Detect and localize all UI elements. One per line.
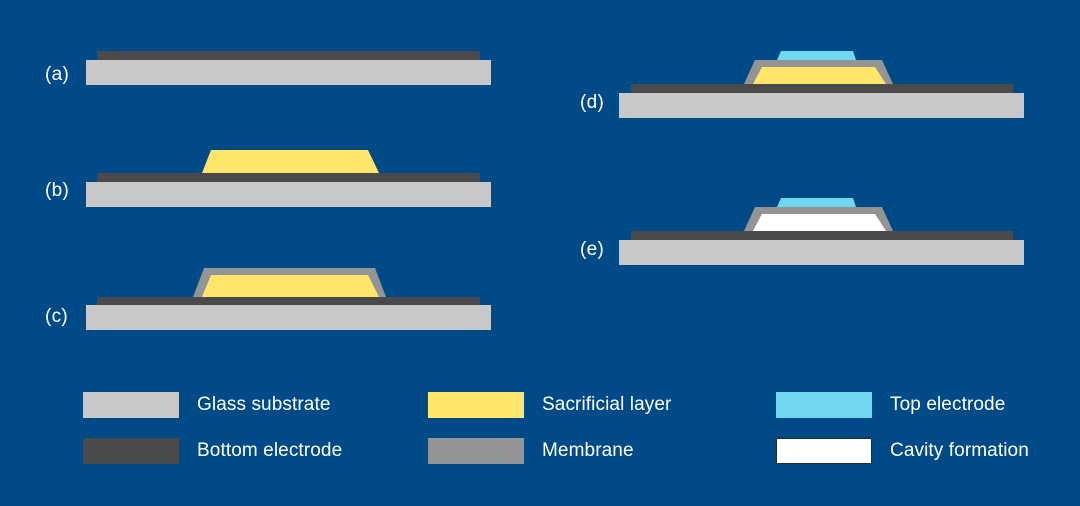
sacrificial-layer-shape <box>753 67 886 84</box>
panel-c <box>80 258 500 343</box>
top-electrode-shape <box>777 51 856 60</box>
glass-substrate-layer <box>619 93 1024 118</box>
legend-swatch-sacrificial-layer <box>428 392 524 418</box>
legend-label-top-electrode: Top electrode <box>890 394 1005 416</box>
glass-substrate-layer <box>86 305 491 330</box>
legend-swatch-bottom-electrode <box>83 438 179 464</box>
legend-item-top-electrode: Top electrode <box>776 392 1005 418</box>
legend-label-sacrificial-layer: Sacrificial layer <box>542 394 671 416</box>
legend-item-bottom-electrode: Bottom electrode <box>83 438 342 464</box>
legend-label-glass-substrate: Glass substrate <box>197 394 331 416</box>
sacrificial-layer-shape <box>202 275 379 297</box>
legend-item-sacrificial-layer: Sacrificial layer <box>428 392 671 418</box>
legend-item-cavity-formation: Cavity formation <box>776 438 1029 464</box>
legend-swatch-membrane <box>428 438 524 464</box>
glass-substrate-layer <box>86 60 491 85</box>
legend: Glass substrate Sacrificial layer Top el… <box>83 392 1043 472</box>
panel-label-b: (b) <box>45 180 69 202</box>
panel-label-d: (d) <box>580 92 604 114</box>
legend-item-membrane: Membrane <box>428 438 634 464</box>
sacrificial-layer-shape <box>202 150 379 173</box>
diagram-canvas: (a) (b) (c) (d) <box>0 0 1080 506</box>
glass-substrate-layer <box>86 182 491 207</box>
top-electrode-shape <box>777 198 856 207</box>
bottom-electrode-layer <box>97 297 480 305</box>
legend-item-glass-substrate: Glass substrate <box>83 392 331 418</box>
legend-swatch-top-electrode <box>776 392 872 418</box>
bottom-electrode-layer <box>631 84 1013 93</box>
panel-d <box>613 42 1033 127</box>
panel-a <box>80 40 500 100</box>
bottom-electrode-layer <box>97 173 480 182</box>
panel-label-c: (c) <box>45 306 68 328</box>
legend-swatch-glass-substrate <box>83 392 179 418</box>
legend-label-bottom-electrode: Bottom electrode <box>197 440 342 462</box>
cavity-formation-shape <box>753 214 886 231</box>
panel-e <box>613 189 1033 274</box>
legend-swatch-cavity-formation <box>776 438 872 464</box>
panel-b <box>80 140 500 215</box>
glass-substrate-layer <box>619 240 1024 265</box>
panel-label-e: (e) <box>580 239 604 261</box>
bottom-electrode-layer <box>97 51 480 60</box>
panel-label-a: (a) <box>45 64 69 86</box>
bottom-electrode-layer <box>631 231 1013 240</box>
legend-label-membrane: Membrane <box>542 440 634 462</box>
legend-label-cavity-formation: Cavity formation <box>890 440 1029 462</box>
